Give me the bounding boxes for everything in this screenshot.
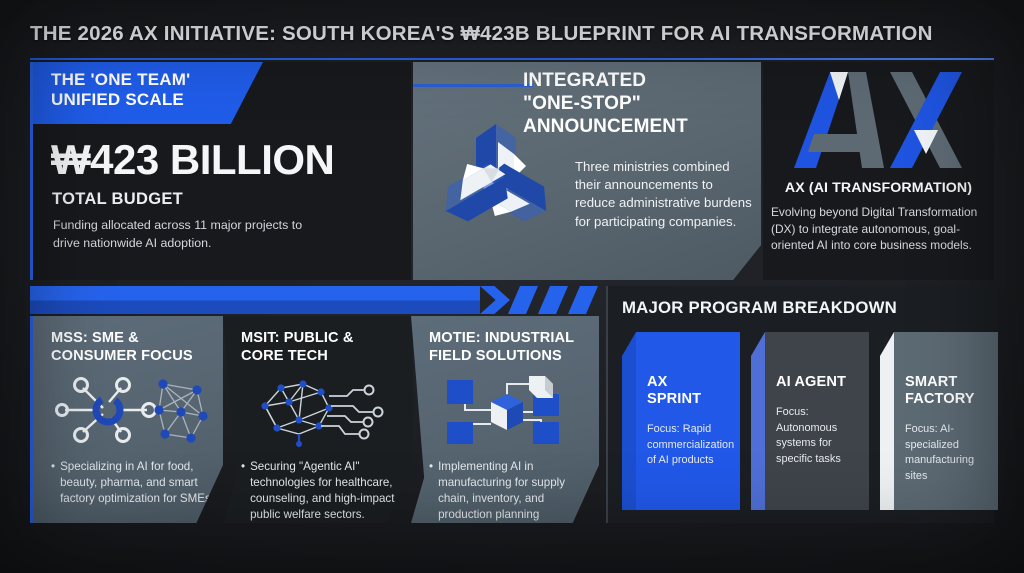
ministry-heading-line-1: MSIT: PUBLIC &	[241, 330, 399, 348]
program-focus: Focus: AI-specialized manufacturing site…	[905, 422, 989, 484]
card-face: AI AGENT Focus: Autonomous systems for s…	[765, 332, 869, 510]
program-name: SMART FACTORY	[905, 374, 989, 408]
unified-scale-ribbon: THE 'ONE TEAM' UNIFIED SCALE	[33, 62, 263, 124]
bullet-icon: •	[429, 459, 433, 540]
card-face: SMART FACTORY Focus: AI-specialized manu…	[894, 332, 998, 510]
bullet-icon: •	[241, 459, 245, 524]
top-row: THE 'ONE TEAM' UNIFIED SCALE ₩423 BILLIO…	[30, 62, 994, 280]
chevron-icon	[480, 286, 510, 314]
one-stop-announcement-card: INTEGRATED "ONE-STOP" ANNOUNCEMENT Three…	[413, 62, 761, 280]
ministry-heading-line-2: FIELD SOLUTIONS	[429, 348, 585, 366]
ministry-heading-line-1: MOTIE: INDUSTRIAL	[429, 330, 585, 348]
ministry-description-text: Securing "Agentic AI" technologies for h…	[250, 459, 409, 524]
program-name-line-2: FACTORY	[905, 391, 989, 408]
program-card-ai-agent[interactable]: AI AGENT Focus: Autonomous systems for s…	[751, 332, 869, 510]
blue-divider-band	[30, 286, 596, 314]
ministry-column-msit: MSIT: PUBLIC & CORE TECH	[223, 316, 413, 523]
budget-description: Funding allocated across 11 major projec…	[53, 217, 313, 252]
program-focus: Focus: Rapid commercialization of AI pro…	[647, 422, 731, 468]
divider-bar	[30, 286, 480, 314]
page-title: THE 2026 AX INITIATIVE: SOUTH KOREA'S ₩4…	[30, 22, 933, 46]
one-stop-heading-line-3: ANNOUNCEMENT	[523, 116, 755, 139]
network-nodes-icon	[51, 372, 211, 448]
program-breakdown-panel: MAJOR PROGRAM BREAKDOWN AX SPRINT Focus:…	[606, 286, 994, 523]
ministry-description-text: Implementing AI in manufacturing for sup…	[438, 459, 597, 540]
card-edge	[751, 332, 765, 510]
ministry-description: • Implementing AI in manufacturing for s…	[429, 459, 597, 540]
one-stop-heading-line-2: "ONE-STOP"	[523, 93, 755, 116]
ai-brain-circuit-icon	[241, 372, 401, 448]
program-name: AX SPRINT	[647, 374, 731, 408]
budget-card: THE 'ONE TEAM' UNIFIED SCALE ₩423 BILLIO…	[30, 62, 411, 280]
program-card-smart-factory[interactable]: SMART FACTORY Focus: AI-specialized manu…	[880, 332, 998, 510]
ministry-column-motie: MOTIE: INDUSTRIAL FIELD SOLUTIONS	[411, 316, 599, 523]
program-card-ax-sprint[interactable]: AX SPRINT Focus: Rapid commercialization…	[622, 332, 740, 510]
one-stop-heading: INTEGRATED "ONE-STOP" ANNOUNCEMENT	[523, 70, 755, 138]
bullet-icon: •	[51, 459, 55, 508]
chevron-icon	[538, 286, 568, 314]
card-edge	[880, 332, 894, 510]
program-focus: Focus: Autonomous systems for specific t…	[776, 405, 860, 467]
ministry-heading: MOTIE: INDUSTRIAL FIELD SOLUTIONS	[429, 330, 585, 366]
chevron-icon	[568, 286, 598, 314]
ministry-heading-line-2: CORE TECH	[241, 348, 399, 366]
ax-monogram-logo	[790, 68, 968, 172]
one-stop-description: Three ministries combined their announce…	[575, 158, 755, 231]
program-name-line-2: SPRINT	[647, 391, 731, 408]
card-face: AX SPRINT Focus: Rapid commercialization…	[636, 332, 740, 510]
program-name: AI AGENT	[776, 374, 860, 391]
total-budget-label: TOTAL BUDGET	[52, 190, 183, 209]
page-title-bar: THE 2026 AX INITIATIVE: SOUTH KOREA'S ₩4…	[0, 14, 1024, 54]
ministry-heading-line-2: CONSUMER FOCUS	[51, 348, 209, 366]
program-name-line-1: AI AGENT	[776, 374, 860, 391]
card-edge	[622, 332, 636, 510]
ministry-heading: MSIT: PUBLIC & CORE TECH	[241, 330, 399, 366]
ribbon-line-1: THE 'ONE TEAM'	[51, 70, 263, 90]
ax-card-description: Evolving beyond Digital Transformation (…	[771, 204, 989, 254]
ministry-heading: MSS: SME & CONSUMER FOCUS	[51, 330, 209, 366]
ministry-description-text: Specializing in AI for food, beauty, pha…	[60, 459, 219, 508]
title-divider-rule	[30, 58, 994, 60]
one-stop-heading-line-1: INTEGRATED	[523, 70, 755, 93]
ax-card-title: AX (AI TRANSFORMATION)	[763, 180, 994, 196]
ministry-column-mss: MSS: SME & CONSUMER FOCUS	[33, 316, 223, 523]
divider-chevrons	[480, 286, 596, 314]
ribbon-line-2: UNIFIED SCALE	[51, 90, 263, 110]
program-name-line-1: AX	[647, 374, 731, 391]
total-budget-amount: ₩423 BILLION	[51, 136, 334, 184]
ministry-description: • Specializing in AI for food, beauty, p…	[51, 459, 219, 508]
infographic-canvas: THE 2026 AX INITIATIVE: SOUTH KOREA'S ₩4…	[0, 0, 1024, 573]
ax-transformation-card: AX (AI TRANSFORMATION) Evolving beyond D…	[763, 62, 994, 280]
ministry-description: • Securing "Agentic AI" technologies for…	[241, 459, 409, 524]
one-stop-accent-rule	[413, 84, 533, 87]
ministry-columns: MSS: SME & CONSUMER FOCUS	[30, 316, 596, 523]
cube-nodes-icon	[429, 372, 589, 448]
program-name-line-1: SMART	[905, 374, 989, 391]
program-card-list: AX SPRINT Focus: Rapid commercialization…	[622, 332, 982, 510]
ministry-heading-line-1: MSS: SME &	[51, 330, 209, 348]
chevron-icon	[508, 286, 538, 314]
program-breakdown-heading: MAJOR PROGRAM BREAKDOWN	[622, 298, 897, 318]
